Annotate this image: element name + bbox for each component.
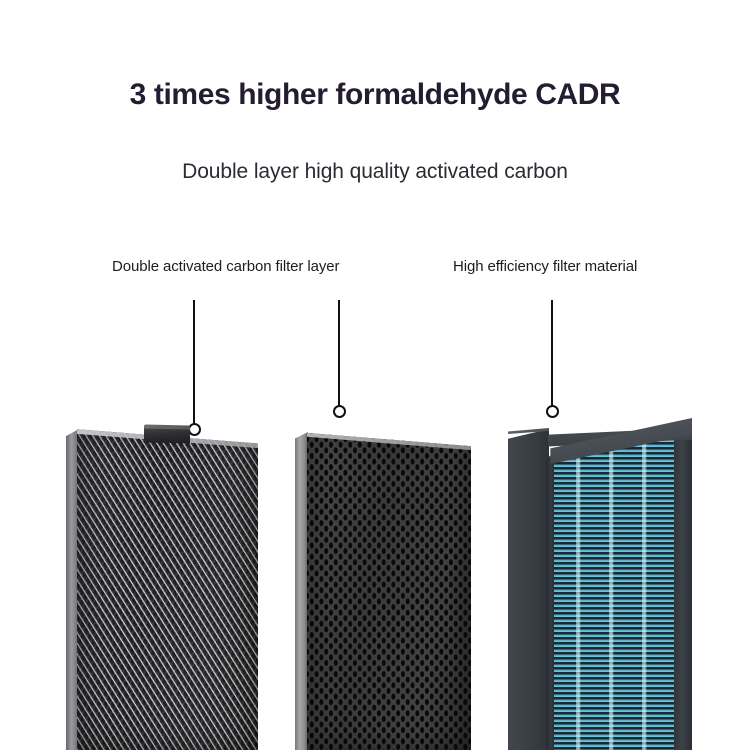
product-hepa-pleated-panel [508, 412, 692, 750]
hepa-panel-frame-rail-right [674, 418, 692, 750]
product-infographic: 3 times higher formaldehyde CADR Double … [0, 0, 750, 750]
hepa-panel-frame-rail-left [546, 430, 554, 750]
hepa-panel-pleated-media [548, 430, 692, 750]
honeycomb-panel-side-edge [295, 432, 308, 750]
product-honeycomb-carbon-panel [295, 428, 471, 750]
page-title: 3 times higher formaldehyde CADR [0, 78, 750, 112]
mesh-panel-face [77, 424, 258, 750]
leader-line-honeycomb-panel [338, 300, 340, 406]
leader-dot-honeycomb-panel [333, 405, 346, 418]
honeycomb-panel-face [307, 428, 471, 750]
callout-label-double-activated-carbon-filter-layer: Double activated carbon filter layer [112, 258, 339, 275]
product-mesh-prefilter-panel [66, 424, 258, 750]
callout-label-high-efficiency-filter-material: High efficiency filter material [453, 258, 637, 275]
leader-line-mesh-panel [193, 300, 195, 424]
hepa-panel-side-face [508, 429, 549, 750]
page-subtitle: Double layer high quality activated carb… [0, 160, 750, 184]
leader-line-hepa-panel [551, 300, 553, 406]
